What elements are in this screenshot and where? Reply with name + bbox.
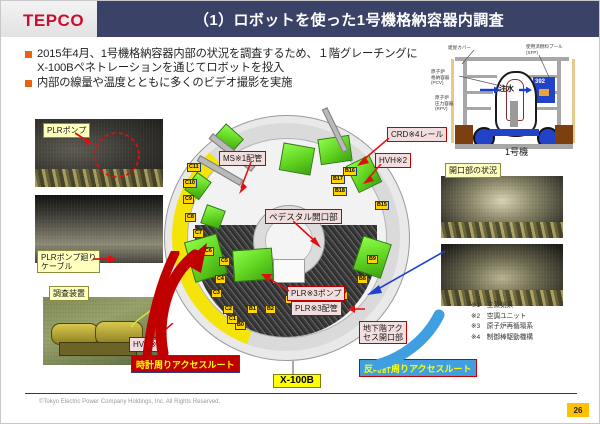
plr-pump-arrow-icon [257,273,291,295]
bullet-square-icon [25,80,32,87]
sfp-value: 392 [535,79,545,85]
photo2-arrow-icon [93,253,119,265]
tepco-logo: TEPCO [23,11,84,31]
marker-b17[interactable]: B17 [331,175,345,184]
photo2-caption: PLRポンプ廻り ケーブル [37,250,100,273]
hvh-top-arrow-icon [361,164,383,186]
footnote-list: ※1 主蒸気系 ※2 空調ユニット ※3 原子炉再循環系 ※4 制御棒駆動機構 [471,301,533,343]
photo-opening-1 [441,176,563,238]
marker-b1[interactable]: B1 [247,305,258,314]
page-title: （1）ロボットを使った1号機格納容器内調査 [97,1,600,37]
rpv-label: 原子炉 圧力容器 (RPV) [435,95,453,112]
slide-header: TEPCO （1）ロボットを使った1号機格納容器内調査 [1,1,600,41]
page-number-badge: 26 [567,403,589,417]
marker-c9[interactable]: C9 [183,195,194,204]
footnote-3: ※3 原子炉再循環系 [471,322,533,333]
marker-b18[interactable]: B18 [333,187,347,196]
marker-c5[interactable]: C5 [219,257,230,266]
counterclockwise-route-arrow [373,301,447,373]
marker-b15[interactable]: B15 [375,201,389,210]
equipment-top-center [279,142,315,175]
x100b-leader-line [287,361,299,377]
footnote-2: ※2 空調ユニット [471,312,533,323]
footnote-4: ※4 制御棒駆動機構 [471,333,533,344]
bullet-list: 2015年4月、1号機格納容器内部の状況を調査するため、１階グレーチングにX-1… [25,47,425,92]
injection-arrow2-icon [519,86,533,94]
marker-c8[interactable]: C8 [185,213,196,222]
marker-c11[interactable]: C11 [187,163,201,172]
floor-slab [467,107,491,110]
cover-leader-line [461,50,477,66]
marker-b2[interactable]: B2 [265,305,276,314]
photo1-arrow-icon [75,132,97,148]
bullet-square-icon [25,51,32,58]
bullet-text: 2015年4月、1号機格納容器内部の状況を調査するため、１階グレーチングにX-1… [37,47,425,75]
robot-chassis [59,342,137,356]
pedestal-arrow-icon [293,221,325,251]
bullet-item: 2015年4月、1号機格納容器内部の状況を調査するため、１階グレーチングにX-1… [25,47,425,75]
plr-pump-caption: PLR※3ポンプ [287,286,345,301]
plr-pipe-caption: PLR※3配管 [291,301,342,316]
marker-c2[interactable]: C2 [223,305,234,314]
sfp-fuel-icon [539,89,549,96]
footer-divider [25,393,577,394]
slide: TEPCO （1）ロボットを使った1号機格納容器内調査 2015年4月、1号機格… [0,0,600,424]
footnote-1: ※1 主蒸気系 [471,301,533,312]
photo3-caption: 調査装置 [49,286,89,301]
marker-c1[interactable]: C1 [227,315,238,324]
copyright-text: ©Tokyo Electric Power Company Holdings, … [39,399,220,405]
sfp-leader-line [537,55,553,79]
photo-to-plan-arrow [141,251,181,359]
marker-b16[interactable]: B16 [343,167,357,176]
torus-water [489,129,539,136]
opening-photo-leader [367,249,447,297]
injection-label: 注水 [499,83,514,94]
photo-opening-2 [441,244,563,306]
bullet-text: 内部の線量や温度とともに多くのビデオ撮影を実施 [37,76,292,90]
crd-rail-caption: CRD※4レール [387,127,447,142]
floor-slab [533,107,561,110]
pcv-label: 原子炉 格納容器 (PCV) [431,69,449,86]
rpv-pedestal [510,101,518,127]
marker-c10[interactable]: C10 [183,179,197,188]
sfp-label: 使用済燃料プール (SFP) [526,44,563,55]
bullet-item: 内部の線量や温度とともに多くのビデオ撮影を実施 [25,76,425,90]
dashed-ellipse-annotation [91,131,143,179]
reactor-section-diagram: 392 注水 建屋カバー 使用済燃料プール (SFP) 原子炉 格納容器 (PC… [433,45,593,157]
ms-pipe-arrow-icon [237,162,255,196]
pcv-leader-line [459,75,499,87]
unit-label: 1号機 [505,145,528,158]
plr-pipe-arrow-icon [347,303,367,315]
opening-caption: 開口部の状況 [445,163,501,178]
